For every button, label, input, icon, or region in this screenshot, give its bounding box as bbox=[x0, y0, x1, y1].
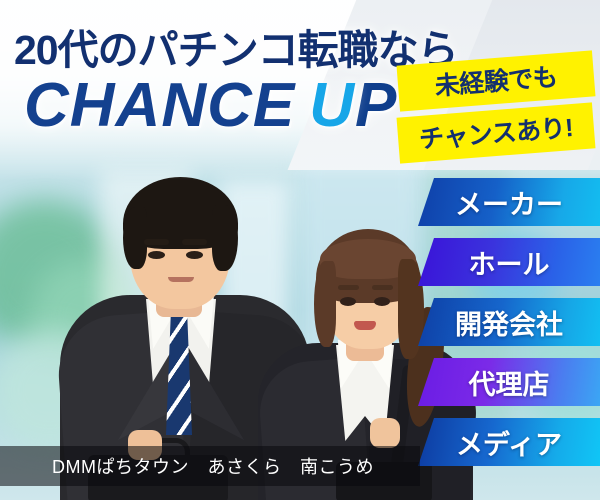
category-tab-developer[interactable]: 開発会社 bbox=[418, 298, 600, 346]
category-tab-agency[interactable]: 代理店 bbox=[418, 358, 600, 406]
category-tab-label: ホール bbox=[469, 243, 550, 282]
category-tab-label: 代理店 bbox=[469, 363, 550, 402]
logo-letter-u: U bbox=[309, 71, 355, 140]
credit-caption-text: DMMぱちタウン あさくら 南こうめ bbox=[52, 453, 374, 479]
logo-chance-up: CHANCEUP bbox=[24, 70, 397, 141]
hand bbox=[370, 418, 400, 448]
headline: 20代のパチンコ転職なら bbox=[14, 16, 458, 76]
category-tab-label: 開発会社 bbox=[455, 303, 563, 342]
category-tab-media[interactable]: メディア bbox=[418, 418, 600, 466]
logo-word-up: UP bbox=[309, 71, 397, 140]
logo-letter-p: P bbox=[355, 71, 397, 140]
badge-line-2: チャンスあり! bbox=[396, 102, 595, 163]
credit-caption-bar: DMMぱちタウン あさくら 南こうめ bbox=[0, 446, 420, 486]
category-tab-hall[interactable]: ホール bbox=[418, 238, 600, 286]
category-tab-label: メーカー bbox=[455, 183, 563, 222]
category-tab-label: メディア bbox=[456, 423, 562, 462]
banner-advertisement: 20代のパチンコ転職なら CHANCEUP 未経験でも チャンスあり! メーカー… bbox=[0, 0, 600, 500]
badge-line-1: 未経験でも bbox=[396, 50, 595, 111]
category-tab-maker[interactable]: メーカー bbox=[418, 178, 600, 226]
promo-badge: 未経験でも チャンスあり! bbox=[398, 58, 594, 156]
category-tab-list: メーカー ホール 開発会社 代理店 メディア bbox=[418, 178, 600, 478]
logo-word-chance: CHANCE bbox=[24, 71, 295, 140]
